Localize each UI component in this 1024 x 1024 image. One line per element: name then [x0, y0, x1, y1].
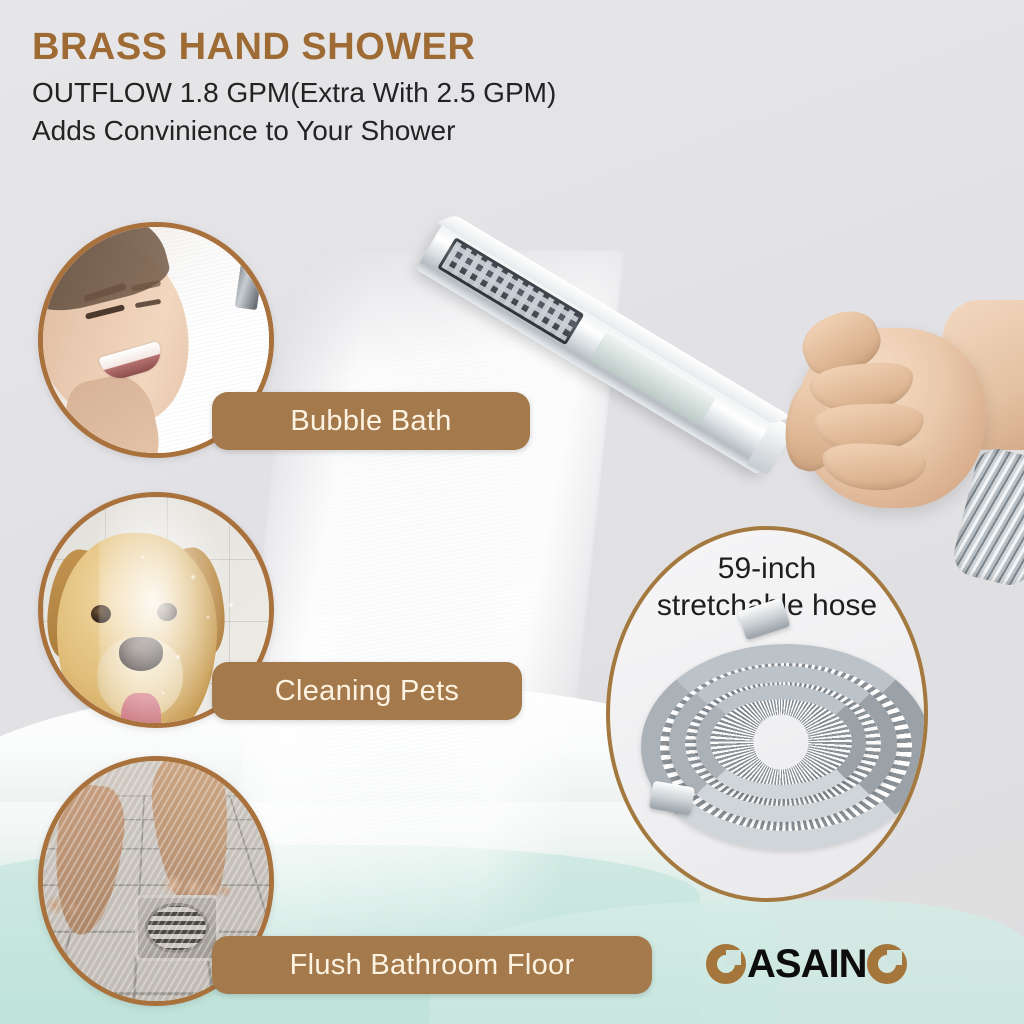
logo-wordmark: ASAIN	[747, 944, 866, 984]
badge-flush-bathroom-floor: Flush Bathroom Floor	[212, 936, 652, 994]
hose-callout-line-1: 59-inch	[610, 550, 924, 587]
subtitle-line-1: OUTFLOW 1.8 GPM(Extra With 2.5 GPM)	[32, 74, 812, 112]
hose-callout-circle: 59-inch stretchable hose	[606, 526, 928, 902]
hose-fitting-bottom	[649, 781, 695, 816]
brand-logo: ASAIN	[706, 944, 907, 984]
logo-c-ring-icon	[706, 944, 746, 984]
hose-coil-inner	[696, 685, 866, 799]
header: BRASS HAND SHOWER OUTFLOW 1.8 GPM(Extra …	[32, 24, 812, 149]
page-title: BRASS HAND SHOWER	[32, 24, 812, 70]
badge-cleaning-pets: Cleaning Pets	[212, 662, 522, 720]
infographic-canvas: BRASS HAND SHOWER OUTFLOW 1.8 GPM(Extra …	[0, 0, 1024, 1024]
logo-o-ring-icon	[867, 944, 907, 984]
subtitle-line-2: Adds Convinience to Your Shower	[32, 112, 812, 150]
badge-bubble-bath: Bubble Bath	[212, 392, 530, 450]
